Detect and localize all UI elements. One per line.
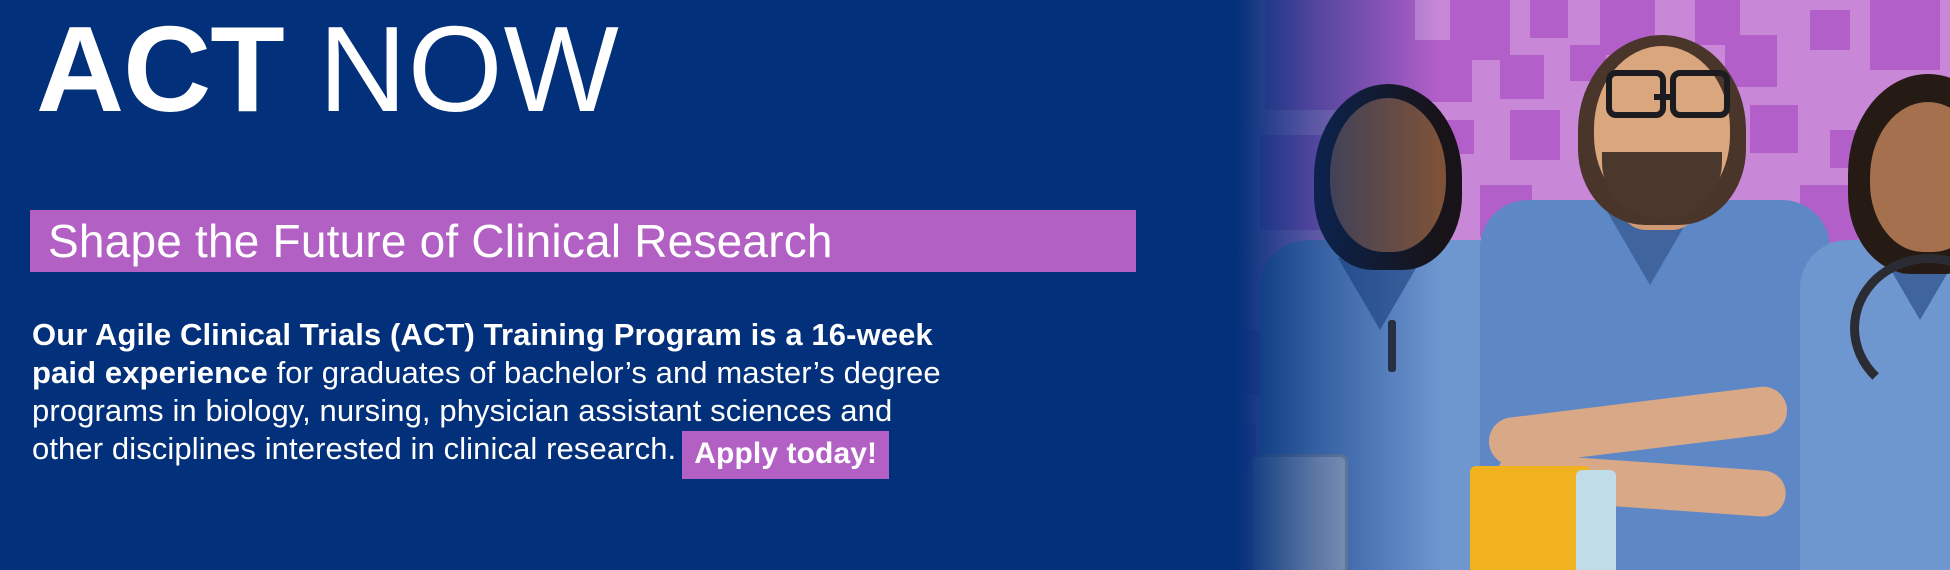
- folder-blue: [1576, 470, 1616, 570]
- text-column: ACT NOW Shape the Future of Clinical Res…: [0, 0, 1150, 570]
- apply-today-button[interactable]: Apply today!: [682, 431, 889, 479]
- photo-panel: [1110, 0, 1950, 570]
- act-now-banner: ACT NOW Shape the Future of Clinical Res…: [0, 0, 1950, 570]
- body-copy: Our Agile Clinical Trials (ACT) Training…: [32, 316, 952, 479]
- clinician-right: [1790, 70, 1950, 570]
- glasses-right-lens: [1670, 70, 1730, 118]
- headline-bold: ACT: [36, 1, 284, 137]
- panel-fade: [1110, 0, 1440, 570]
- subheadline-bar: Shape the Future of Clinical Research: [30, 210, 1136, 272]
- glasses-bridge: [1654, 94, 1672, 100]
- headline-light: NOW: [284, 1, 620, 137]
- folder-yellow: [1470, 466, 1590, 570]
- subheadline-text: Shape the Future of Clinical Research: [30, 214, 833, 268]
- body-bold-continuation: experience: [105, 355, 268, 390]
- headline: ACT NOW: [36, 8, 620, 130]
